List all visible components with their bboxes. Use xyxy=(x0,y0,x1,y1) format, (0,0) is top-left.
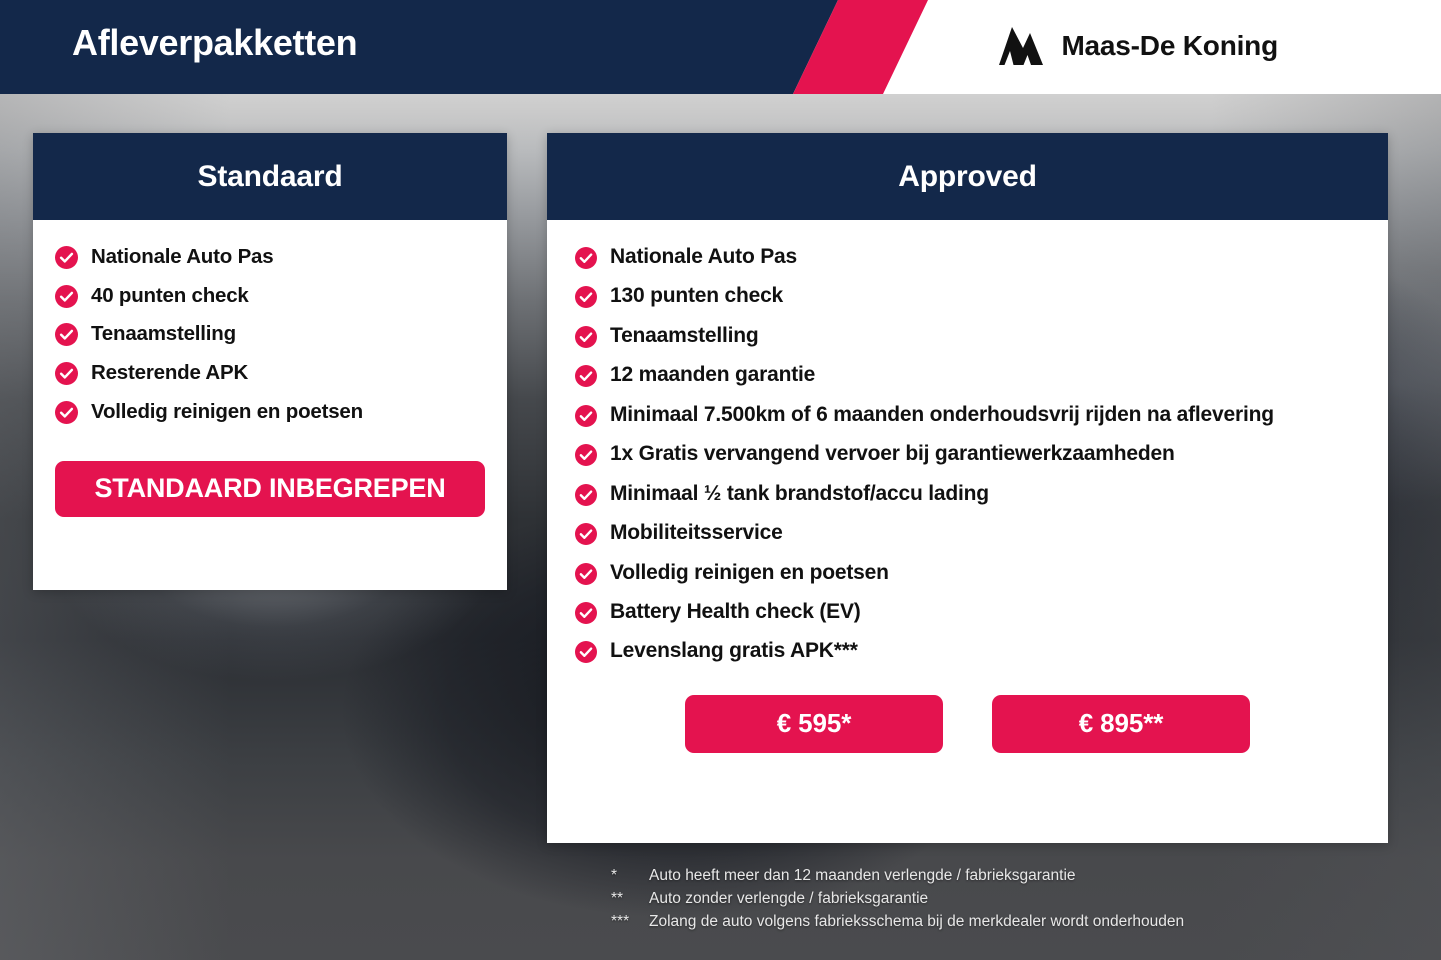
maas-de-koning-logo-icon xyxy=(999,27,1043,65)
feature-label: Volledig reinigen en poetsen xyxy=(91,397,363,427)
package-title-standaard: Standaard xyxy=(33,133,507,220)
feature-label: Levenslang gratis APK*** xyxy=(610,636,858,666)
feature-label: Minimaal ½ tank brandstof/accu lading xyxy=(610,479,989,509)
check-circle-icon xyxy=(575,563,597,585)
page-header: Afleverpakketten Maas-De Koning xyxy=(0,0,1441,94)
check-circle-icon xyxy=(55,362,78,385)
check-circle-icon xyxy=(575,602,597,624)
feature-label: Tenaamstelling xyxy=(610,321,759,351)
check-circle-icon xyxy=(575,523,597,545)
price-button-row: € 595* € 895** xyxy=(547,695,1388,753)
list-item: Nationale Auto Pas xyxy=(33,242,507,272)
feature-label: Nationale Auto Pas xyxy=(610,242,797,272)
list-item: Mobiliteitsservice xyxy=(547,518,1388,548)
list-item: Minimaal ½ tank brandstof/accu lading xyxy=(547,479,1388,509)
check-circle-icon xyxy=(55,285,78,308)
list-item: 1x Gratis vervangend vervoer bij garanti… xyxy=(547,439,1388,469)
list-item: Tenaamstelling xyxy=(33,319,507,349)
list-item: Tenaamstelling xyxy=(547,321,1388,351)
check-circle-icon xyxy=(575,365,597,387)
list-item: 12 maanden garantie xyxy=(547,360,1388,390)
footnote-single-asterisk: * Auto heeft meer dan 12 maanden verleng… xyxy=(611,864,1184,887)
feature-label: Minimaal 7.500km of 6 maanden onderhouds… xyxy=(610,400,1274,430)
list-item: 40 punten check xyxy=(33,281,507,311)
check-circle-icon xyxy=(575,286,597,308)
feature-list-approved: Nationale Auto Pas 130 punten check Tena… xyxy=(547,242,1388,667)
feature-label: Tenaamstelling xyxy=(91,319,236,349)
list-item: Battery Health check (EV) xyxy=(547,597,1388,627)
feature-label: Battery Health check (EV) xyxy=(610,597,861,627)
check-circle-icon xyxy=(575,326,597,348)
feature-label: 40 punten check xyxy=(91,281,249,311)
list-item: Minimaal 7.500km of 6 maanden onderhouds… xyxy=(547,400,1388,430)
price-button-595[interactable]: € 595* xyxy=(685,695,943,753)
footnote-double-asterisk: ** Auto zonder verlengde / fabrieksgaran… xyxy=(611,887,1184,910)
footnotes-block: * Auto heeft meer dan 12 maanden verleng… xyxy=(611,864,1184,933)
footnote-marker: ** xyxy=(611,887,649,910)
list-item: Resterende APK xyxy=(33,358,507,388)
brand-name: Maas-De Koning xyxy=(1061,30,1278,62)
check-circle-icon xyxy=(575,641,597,663)
poster-canvas: Afleverpakketten Maas-De Koning Standaar… xyxy=(0,0,1441,960)
list-item: Volledig reinigen en poetsen xyxy=(33,397,507,427)
feature-list-standaard: Nationale Auto Pas 40 punten check Tenaa… xyxy=(33,242,507,427)
package-card-standaard: Standaard Nationale Auto Pas 40 punten c… xyxy=(33,133,507,590)
package-title-approved: Approved xyxy=(547,133,1388,220)
footnote-triple-asterisk: *** Zolang de auto volgens fabrieksschem… xyxy=(611,910,1184,933)
package-body-approved: Nationale Auto Pas 130 punten check Tena… xyxy=(547,220,1388,753)
footnote-marker: *** xyxy=(611,910,649,933)
price-button-895[interactable]: € 895** xyxy=(992,695,1250,753)
brand-lockup: Maas-De Koning xyxy=(999,27,1278,65)
standaard-inbegrepen-button[interactable]: STANDAARD INBEGREPEN xyxy=(55,461,485,517)
feature-label: Mobiliteitsservice xyxy=(610,518,783,548)
list-item: Volledig reinigen en poetsen xyxy=(547,558,1388,588)
list-item: Nationale Auto Pas xyxy=(547,242,1388,272)
check-circle-icon xyxy=(55,401,78,424)
check-circle-icon xyxy=(575,444,597,466)
footnote-marker: * xyxy=(611,864,649,887)
package-body-standaard: Nationale Auto Pas 40 punten check Tenaa… xyxy=(33,220,507,517)
feature-label: Volledig reinigen en poetsen xyxy=(610,558,889,588)
feature-label: Resterende APK xyxy=(91,358,248,388)
list-item: 130 punten check xyxy=(547,281,1388,311)
check-circle-icon xyxy=(55,323,78,346)
package-card-approved: Approved Nationale Auto Pas 130 punten c… xyxy=(547,133,1388,843)
check-circle-icon xyxy=(55,246,78,269)
page-title: Afleverpakketten xyxy=(72,22,357,64)
feature-label: 12 maanden garantie xyxy=(610,360,815,390)
feature-label: 130 punten check xyxy=(610,281,783,311)
footnote-text: Auto heeft meer dan 12 maanden verlengde… xyxy=(649,864,1076,887)
check-circle-icon xyxy=(575,484,597,506)
check-circle-icon xyxy=(575,247,597,269)
feature-label: Nationale Auto Pas xyxy=(91,242,273,272)
check-circle-icon xyxy=(575,405,597,427)
list-item: Levenslang gratis APK*** xyxy=(547,636,1388,666)
feature-label: 1x Gratis vervangend vervoer bij garanti… xyxy=(610,439,1175,469)
footnote-text: Auto zonder verlengde / fabrieksgarantie xyxy=(649,887,928,910)
footnote-text: Zolang de auto volgens fabrieksschema bi… xyxy=(649,910,1184,933)
